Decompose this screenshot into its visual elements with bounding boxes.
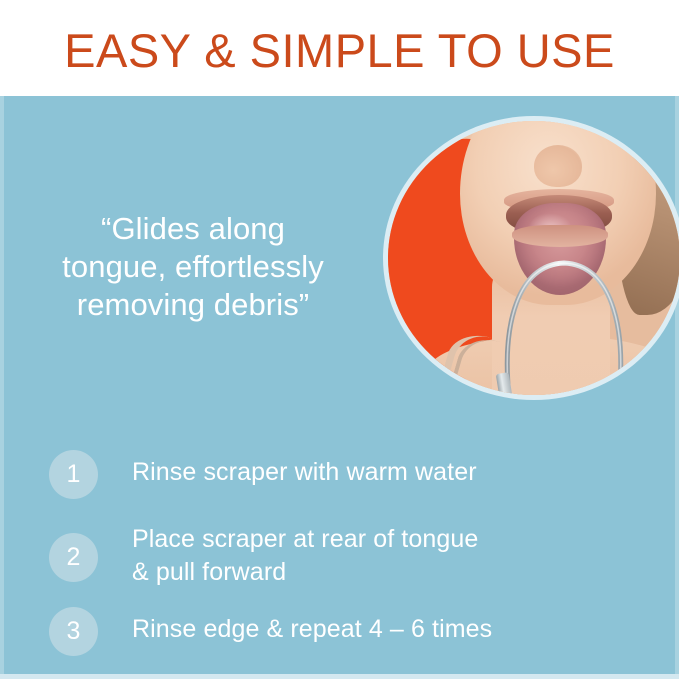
list-item: 3 Rinse edge & repeat 4 – 6 times xyxy=(49,607,629,656)
step-number-badge-1: 1 xyxy=(49,450,98,499)
tongue-scraper-tool xyxy=(484,207,644,395)
step-number-badge-2: 2 xyxy=(49,533,98,582)
photo-circle-ring xyxy=(383,116,679,400)
step-number-badge-3: 3 xyxy=(49,607,98,656)
step-2-line-1: Place scraper at rear of tongue xyxy=(132,525,478,553)
photo-scene xyxy=(388,121,679,395)
testimonial-quote: “Glides along tongue, effortlessly remov… xyxy=(28,210,358,324)
step-1-line-1: Rinse scraper with warm water xyxy=(132,458,477,486)
panel-edge-left xyxy=(0,96,4,679)
header-band: EASY & SIMPLE TO USE xyxy=(0,0,679,96)
scraper-wire-icon xyxy=(484,207,644,395)
page-title: EASY & SIMPLE TO USE xyxy=(64,23,615,74)
step-text-2: Place scraper at rear of tongue & pull f… xyxy=(132,517,478,589)
step-text-3: Rinse edge & repeat 4 – 6 times xyxy=(132,607,492,646)
step-2-line-2: & pull forward xyxy=(132,556,478,589)
list-item: 1 Rinse scraper with warm water xyxy=(49,450,629,499)
step-text-1: Rinse scraper with warm water xyxy=(132,450,477,489)
step-3-line-1: Rinse edge & repeat 4 – 6 times xyxy=(132,615,492,643)
list-item: 2 Place scraper at rear of tongue & pull… xyxy=(49,517,629,589)
instruction-steps-list: 1 Rinse scraper with warm water 2 Place … xyxy=(49,450,629,656)
usage-photo xyxy=(388,121,679,395)
quote-line-1: “Glides along xyxy=(28,210,358,248)
quote-line-3: removing debris” xyxy=(28,286,358,324)
panel-edge-bottom xyxy=(0,674,679,679)
nose-shape xyxy=(534,145,582,187)
product-infographic: EASY & SIMPLE TO USE xyxy=(0,0,679,679)
quote-line-2: tongue, effortlessly xyxy=(28,248,358,286)
